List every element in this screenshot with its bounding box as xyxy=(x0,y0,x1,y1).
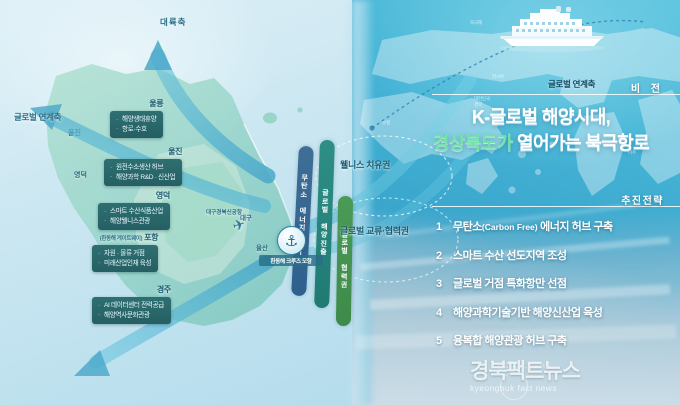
city-box-ulleung: 해양생태휴양 항로·수호 xyxy=(110,111,163,138)
strategy-text: 무탄소(Carbon Free) 에너지 허브 구축 xyxy=(453,218,613,234)
city-box-gyeongju: AI 데이터센터 전력공급 해양역사문화관광 xyxy=(92,297,171,324)
city-item: 해양과학 R&D · 신산업 xyxy=(110,173,175,183)
strategy-number: 2 xyxy=(436,250,453,262)
city-name-yeongdeok: 영덕 xyxy=(98,190,170,201)
strategy-text: 융복합 해양관광 허브 구축 xyxy=(453,332,567,348)
vision-section-label: 비 전 xyxy=(631,80,664,95)
strategy-text: 해양과학기술기반 해양신산업 육성 xyxy=(453,304,602,320)
city-callout-pohang: (환동해 게이트웨이) 포항 자원 · 물류 거점 미래산업인재 육성 xyxy=(92,232,158,272)
strategy-item: 4 해양과학기술기반 해양신산업 육성 xyxy=(436,304,680,320)
city-item: 해양생태휴양 xyxy=(116,115,156,125)
band-global-cooperation: 글 로 벌 협 력 권 xyxy=(336,196,353,326)
city-name-ulleung: 울릉 xyxy=(110,98,163,109)
strategy-item: 1 무탄소(Carbon Free) 에너지 허브 구축 xyxy=(436,218,680,234)
city-item: 스마트 수산식품산업 xyxy=(104,207,163,217)
strategy-text: 스마트 수산 선도지역 조성 xyxy=(453,247,567,263)
watermark-circle-mark xyxy=(500,372,528,400)
city-item: 해양웰니스관광 xyxy=(104,217,163,227)
city-callout-gyeongju: 경주 AI 데이터센터 전력공급 해양역사문화관광 xyxy=(92,284,171,324)
vision-statement: K-글로벌 해양시대, 경상북도가 열어가는 북극항로 xyxy=(404,104,678,156)
korea-peninsula-map xyxy=(8,58,338,388)
city-name-uljin-text: 울진 xyxy=(168,147,182,156)
city-name-yeongdeok-text: 영덕 xyxy=(156,191,170,200)
city-box-pohang: 자원 · 물류 거점 미래산업인재 육성 xyxy=(92,245,158,272)
strategy-section-label: 추진전략 xyxy=(621,192,664,207)
map-pin-label: 울진 xyxy=(68,128,81,138)
watermark-ghost-text: gbfact.news xyxy=(498,360,552,370)
zone-label-wellness: 웰니스 치유권 xyxy=(340,158,390,171)
strategy-item: 5 융복합 해양관광 허브 구축 xyxy=(436,332,680,348)
city-name-gyeongju: 경주 xyxy=(92,284,171,295)
strategy-text-en: (Carbon Free) xyxy=(482,222,538,232)
world-map-place-label: 러시아 xyxy=(492,74,504,80)
anchor-icon: ⚓ xyxy=(277,226,306,255)
city-callout-ulleung: 울릉 해양생태휴양 항로·수호 xyxy=(110,98,163,138)
city-item: AI 데이터센터 전력공급 xyxy=(98,301,164,311)
vision-line-1: K-글로벌 해양시대, xyxy=(404,104,678,130)
airport-caption: 대구경북신공항 xyxy=(206,208,242,216)
city-callout-uljin: 울진 원전수소생산 허브 해양과학 R&D · 신산업 xyxy=(104,146,182,186)
strategy-number: 3 xyxy=(436,278,453,290)
strategy-text-b: 에너지 허브 구축 xyxy=(538,221,613,233)
axis-label-global-right: 글로벌 연계축 xyxy=(548,78,595,90)
strategy-number: 1 xyxy=(436,221,453,233)
city-box-uljin: 원전수소생산 허브 해양과학 R&D · 신산업 xyxy=(104,159,182,186)
map-pin-label: 울산 xyxy=(256,242,268,252)
vision-highlight: 경상북도가 xyxy=(433,133,513,153)
strategy-text-a: 무탄소 xyxy=(453,221,482,233)
city-item: 해양역사문화관광 xyxy=(98,311,164,321)
cruise-ship-icon xyxy=(494,6,610,52)
city-name-uljin: 울진 xyxy=(104,146,182,157)
map-pin-label: 영덕 xyxy=(74,170,87,180)
world-map-place-label: 북극해 xyxy=(470,20,482,26)
band-carbon-label: 무 탄 소 에 너 지 M I X xyxy=(297,175,308,268)
poster-canvas: 북극해 러시아 대한민국경북 유럽 미주 xyxy=(0,0,680,405)
city-callout-yeongdeok: 영덕 스마트 수산식품산업 해양웰니스관광 xyxy=(98,190,170,230)
city-name-pohang-text: 포항 xyxy=(144,233,158,242)
city-box-yeongdeok: 스마트 수산식품산업 해양웰니스관광 xyxy=(98,203,170,230)
city-item: 자원 · 물류 거점 xyxy=(98,249,151,259)
strategy-item: 2 스마트 수산 선도지역 조성 xyxy=(436,247,680,263)
strategy-number: 4 xyxy=(436,307,453,319)
strategy-number: 5 xyxy=(436,335,453,347)
axis-label-continent: 대륙축 xyxy=(160,16,186,28)
strategy-list: 1 무탄소(Carbon Free) 에너지 허브 구축 2 스마트 수산 선도… xyxy=(436,218,680,361)
city-item: 항로·수호 xyxy=(116,125,156,135)
band-coop-label: 글 로 벌 협 력 권 xyxy=(341,232,349,291)
city-name-pohang: (환동해 게이트웨이) 포항 xyxy=(92,232,158,243)
zone-label-exchange: 글로벌 교류·협력권 xyxy=(340,224,409,237)
city-item: 미래산업인재 육성 xyxy=(98,259,151,269)
port-caption: 환동해 크루즈 모항 xyxy=(259,255,323,266)
city-name-ulleung-text: 울릉 xyxy=(149,99,163,108)
strategy-item: 3 글로벌 거점 특화항만 선점 xyxy=(436,275,680,291)
vision-line-2: 경상북도가 열어가는 북극항로 xyxy=(404,130,678,156)
city-name-pohang-sub: (환동해 게이트웨이) xyxy=(100,236,142,242)
strategy-text: 글로벌 거점 특화항만 선점 xyxy=(453,275,567,291)
world-map-place-label: 유럽 xyxy=(382,120,390,126)
vision-rest: 열어가는 북극항로 xyxy=(513,133,649,153)
city-item: 원전수소생산 허브 xyxy=(110,163,175,173)
band-global-label: 글 로 벌 해 양 진 출 xyxy=(320,190,329,257)
axis-label-global-left: 글로벌 연계축 xyxy=(14,111,61,123)
city-name-gyeongju-text: 경주 xyxy=(157,285,171,294)
